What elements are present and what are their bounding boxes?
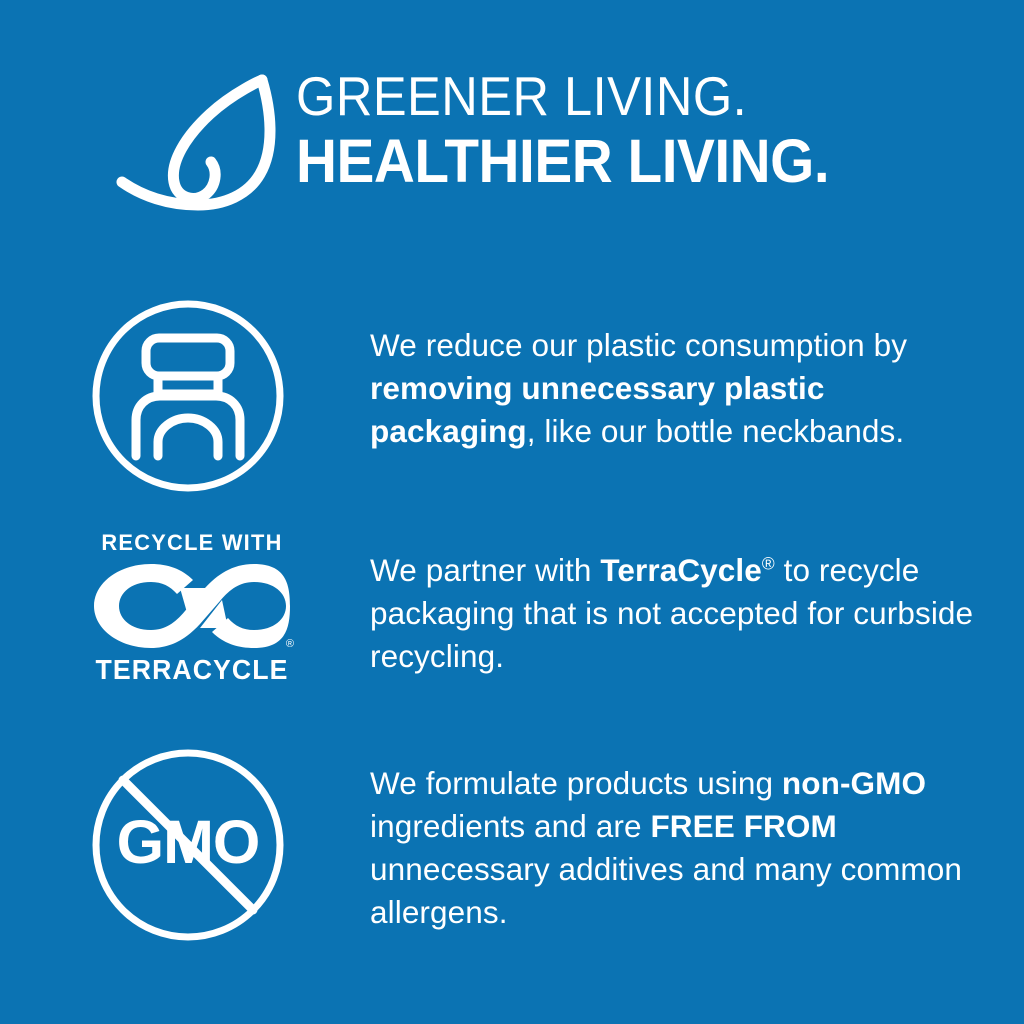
feature-row-terracycle: RECYCLE WITH ® TERRACYCLE We partner wit… bbox=[0, 527, 1024, 717]
feature-row-plastic-reduction: We reduce our plastic consumption by rem… bbox=[0, 296, 1024, 501]
feature-row-non-gmo: GMO We formulate products using non-GMO … bbox=[0, 745, 1024, 960]
bottle-neckband-icon bbox=[88, 296, 288, 501]
no-gmo-icon: GMO bbox=[88, 745, 288, 950]
feature-text-plastic-reduction: We reduce our plastic consumption by rem… bbox=[370, 324, 990, 453]
feature-text-terracycle: We partner with TerraCycle® to recycle p… bbox=[370, 549, 990, 678]
header: GREENER LIVING. HEALTHIER LIVING. bbox=[0, 66, 1024, 226]
terracycle-logo: RECYCLE WITH ® TERRACYCLE bbox=[88, 531, 296, 711]
headline-secondary: HEALTHIER LIVING. bbox=[296, 128, 947, 194]
infinity-recycle-arrows-icon bbox=[88, 558, 296, 654]
terracycle-top-label: RECYCLE WITH bbox=[91, 531, 293, 555]
header-text-block: GREENER LIVING. HEALTHIER LIVING. bbox=[296, 66, 996, 194]
leaf-icon bbox=[112, 70, 288, 222]
terracycle-bottom-label: TERRACYCLE bbox=[91, 655, 293, 685]
headline-primary: GREENER LIVING. bbox=[296, 66, 940, 126]
gmo-label: GMO bbox=[117, 808, 260, 876]
infographic-page: GREENER LIVING. HEALTHIER LIVING. We red… bbox=[0, 0, 1024, 1024]
registered-trademark-icon: ® bbox=[286, 639, 294, 650]
feature-text-non-gmo: We formulate products using non-GMO ingr… bbox=[370, 762, 990, 934]
